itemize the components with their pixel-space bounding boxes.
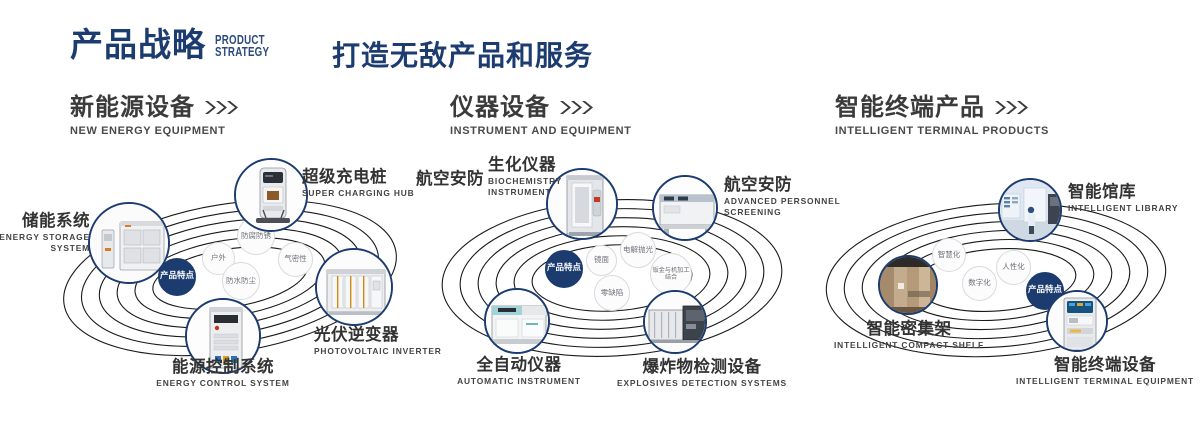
node-label-cn: 智能密集架 — [820, 320, 998, 338]
node-bubble-smart-library[interactable] — [998, 178, 1062, 242]
cluster-instrument: 产品特点 镜面 电解抛光 零缺陷 钣金与机加工结合 航空安防 — [412, 150, 812, 410]
section-title-en-0: NEW ENERGY EQUIPMENT — [70, 125, 239, 137]
self-service-kiosk-icon — [1048, 292, 1106, 350]
node-label-cn: 全自动仪器 — [434, 356, 604, 374]
section-title-en-2: INTELLIGENT TERMINAL PRODUCTS — [835, 125, 1049, 137]
node-label-automatic-instrument: 全自动仪器 AUTOMATIC INSTRUMENT — [434, 356, 604, 387]
node-label-cn: 智能馆库 — [1068, 183, 1198, 201]
feature-pill-label: 电解抛光 — [623, 246, 653, 255]
feature-pill-waterproof: 防水防尘 — [222, 262, 260, 300]
node-label-smart-library: 智能馆库 INTELLIGENT LIBRARY — [1068, 183, 1198, 214]
chevron-right-triple-icon — [560, 101, 594, 114]
feature-pill-electropolishing: 电解抛光 — [620, 232, 656, 268]
page-title-en: PRODUCT STRATEGY — [215, 34, 269, 60]
node-label-energy-storage: 储能系统 ENERGY STORAGE SYSTEM — [0, 212, 90, 253]
node-bubble-pv-inverter[interactable] — [315, 248, 393, 326]
node-label-explosives-detection: 爆炸物检测设备 EXPLOSIVES DETECTION SYSTEMS — [597, 358, 807, 389]
feature-pill-label: 防水防尘 — [226, 277, 256, 286]
section-header-intelligent-terminal: 智能终端产品 INTELLIGENT TERMINAL PRODUCTS — [835, 95, 1049, 137]
node-label-compact-shelf: 智能密集架 INTELLIGENT COMPACT SHELF — [820, 320, 998, 351]
cluster-new-energy: 产品特点 户外 防腐防锈 防水防尘 气密性 — [30, 150, 430, 410]
feature-pill-digital: 数字化 — [962, 266, 997, 301]
section-title-text-1: 仪器设备 — [450, 95, 550, 120]
core-badge-label: 产品特点 — [547, 264, 581, 274]
cluster-intelligent-terminal: 智慧化 数字化 人性化 产品特点 — [800, 150, 1200, 410]
page-slogan: 打造无敌产品和服务 — [332, 34, 593, 74]
section-title-en-1: INSTRUMENT AND EQUIPMENT — [450, 125, 631, 137]
node-bubble-explosives-detection[interactable] — [643, 290, 707, 354]
page-title-cn: 产品战略 — [70, 28, 206, 61]
product-strategy-infographic: 产品战略 PRODUCT STRATEGY 打造无敌产品和服务 新能源设备 NE… — [0, 0, 1200, 422]
section-title-text-0: 新能源设备 — [70, 95, 195, 120]
node-label-en: INTELLIGENT LIBRARY — [1068, 203, 1198, 214]
node-label-biochemistry: 生化仪器 BIOCHEMISTRY INSTRUMENT — [488, 156, 588, 197]
feature-pill-humanized: 人性化 — [996, 250, 1031, 285]
node-label-cn: 生化仪器 — [488, 156, 588, 174]
node-label-cn: 爆炸物检测设备 — [597, 358, 807, 376]
node-label-en: ENERGY STORAGE SYSTEM — [0, 232, 90, 253]
node-bubble-charging-hub[interactable] — [234, 158, 308, 232]
feature-pill-label: 数字化 — [968, 279, 991, 288]
node-bubble-compact-shelf[interactable] — [878, 255, 938, 315]
explosives-detector-icon — [645, 292, 705, 352]
feature-pill-smart: 智慧化 — [932, 238, 966, 272]
node-bubble-energy-storage[interactable] — [88, 202, 170, 284]
section-title-cn-1: 仪器设备 — [450, 95, 631, 120]
energy-storage-cabinet-icon — [90, 204, 168, 282]
page-title: 产品战略 PRODUCT STRATEGY — [70, 28, 285, 61]
feature-pill-label: 镜面 — [594, 256, 609, 265]
ev-charging-pile-icon — [236, 160, 306, 230]
feature-pill-mirror: 镜面 — [586, 245, 617, 276]
section-header-instrument: 仪器设备 INSTRUMENT AND EQUIPMENT — [450, 95, 631, 137]
node-bubble-terminal-equipment[interactable] — [1046, 290, 1108, 352]
page-title-en-line1: PRODUCT — [215, 34, 269, 47]
feature-pill-airtight: 气密性 — [278, 242, 313, 277]
node-bubble-personnel-screening[interactable] — [652, 175, 718, 241]
node-label-en: BIOCHEMISTRY INSTRUMENT — [488, 176, 588, 197]
feature-pill-sheetmetal-machining: 钣金与机加工结合 — [650, 253, 692, 295]
section-title-cn-0: 新能源设备 — [70, 95, 239, 120]
node-label-cn: 智能终端设备 — [1010, 356, 1200, 374]
node-label-en: EXPLOSIVES DETECTION SYSTEMS — [597, 378, 807, 389]
feature-pill-label: 户外 — [211, 254, 226, 263]
node-label-terminal-equipment: 智能终端设备 INTELLIGENT TERMINAL EQUIPMENT — [1010, 356, 1200, 387]
feature-pill-label: 气密性 — [284, 255, 307, 264]
chevron-right-triple-icon — [205, 101, 239, 114]
node-label-energy-control: 能源控制系统 ENERGY CONTROL SYSTEM — [118, 358, 328, 389]
feature-pill-label: 防腐防锈 — [241, 232, 271, 241]
node-label-en: INTELLIGENT COMPACT SHELF — [820, 340, 998, 351]
node-label-en: AUTOMATIC INSTRUMENT — [434, 376, 604, 387]
personnel-screening-machine-icon — [654, 177, 716, 239]
pv-inverter-cabinet-icon — [317, 250, 391, 324]
feature-pill-zero-defect: 零缺陷 — [594, 275, 630, 311]
section-header-new-energy: 新能源设备 NEW ENERGY EQUIPMENT — [70, 95, 239, 137]
feature-pill-label: 零缺陷 — [601, 289, 624, 298]
feature-pill-label: 智慧化 — [938, 251, 961, 260]
node-label-cn: 能源控制系统 — [118, 358, 328, 376]
chevron-right-triple-icon — [995, 101, 1029, 114]
page-title-en-line2: STRATEGY — [215, 46, 269, 59]
section-title-cn-2: 智能终端产品 — [835, 95, 1049, 120]
core-badge-instrument: 产品特点 — [545, 250, 583, 288]
node-bubble-automatic-instrument[interactable] — [484, 288, 550, 354]
section-title-text-2: 智能终端产品 — [835, 95, 985, 120]
node-label-en: INTELLIGENT TERMINAL EQUIPMENT — [1010, 376, 1200, 387]
feature-pill-label: 人性化 — [1002, 263, 1025, 272]
smart-library-room-icon — [1000, 180, 1060, 240]
feature-pill-label: 钣金与机加工结合 — [651, 267, 691, 281]
node-label-cn: 储能系统 — [0, 212, 90, 230]
automatic-analyzer-icon — [486, 290, 548, 352]
node-label-en: ENERGY CONTROL SYSTEM — [118, 378, 328, 389]
compact-shelving-icon — [880, 257, 936, 313]
